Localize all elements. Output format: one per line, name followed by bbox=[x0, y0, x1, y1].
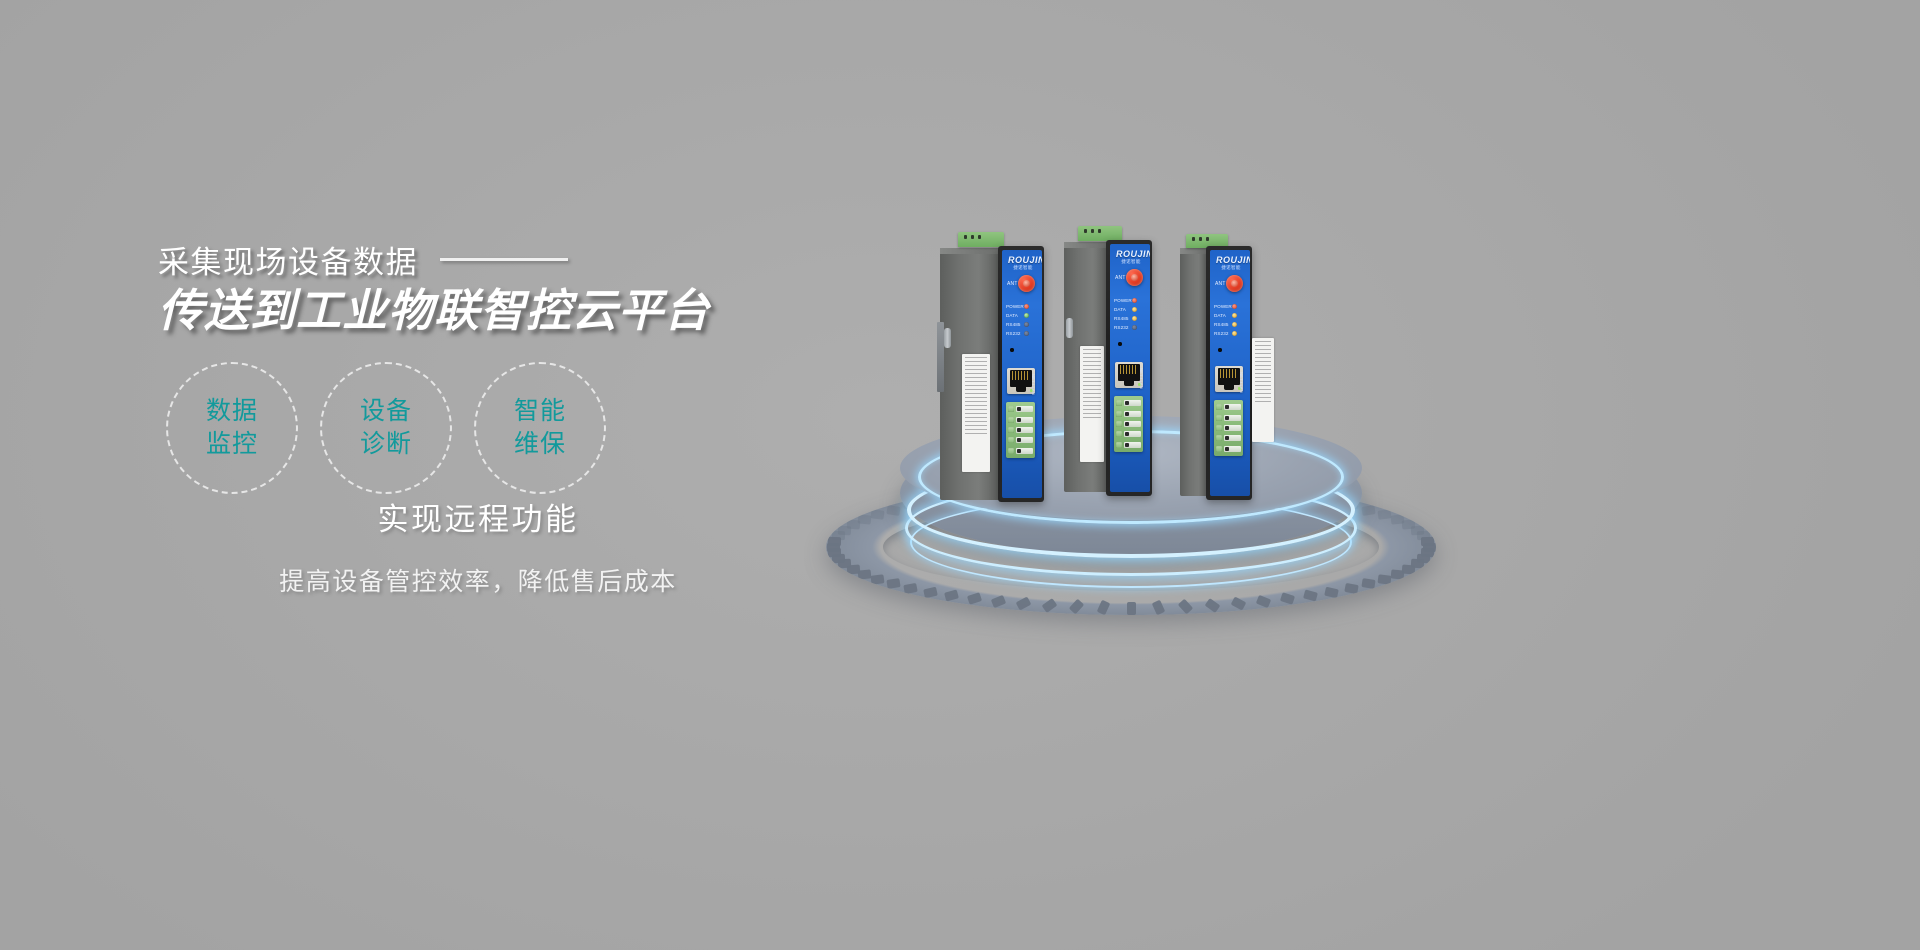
device-spec-label bbox=[962, 354, 990, 472]
terminal-slot bbox=[1008, 426, 1033, 433]
port-tab bbox=[1224, 384, 1234, 390]
feature-label-line1: 数据 bbox=[206, 395, 258, 428]
device-spec-label bbox=[1080, 346, 1104, 462]
led-row: DATA bbox=[1006, 311, 1029, 320]
port-label: NET / LAN bbox=[1031, 374, 1036, 395]
brand-logo: ROUJIN bbox=[1116, 249, 1146, 259]
antenna-label: ANT bbox=[1007, 281, 1018, 287]
terminal-slot bbox=[1116, 431, 1141, 438]
antenna-connector[interactable] bbox=[1018, 275, 1035, 292]
device-faceplate: ROUJIN 捷诺智能 ANT POWER DATA RS485 RS232 bbox=[1210, 250, 1250, 496]
port-label: NET / LAN bbox=[1139, 368, 1144, 389]
product-banner: 采集现场设备数据 传送到工业物联智控云平台 数据 监控 设备 诊断 智能 维保 … bbox=[0, 0, 1920, 950]
status-led bbox=[1024, 304, 1029, 309]
terminal-screw bbox=[1116, 421, 1122, 427]
led-row: DATA bbox=[1214, 311, 1237, 320]
terminal-slot bbox=[1008, 437, 1033, 444]
terminal-slot bbox=[1116, 441, 1141, 448]
port-label: NET / LAN bbox=[1239, 372, 1244, 393]
port-pins bbox=[1220, 369, 1238, 378]
port-tab bbox=[1124, 380, 1134, 386]
led-label: DATA bbox=[1006, 313, 1022, 318]
terminal-screw bbox=[1008, 406, 1014, 412]
terminal-wire-port bbox=[1016, 406, 1033, 412]
antenna-connector[interactable] bbox=[1226, 275, 1243, 292]
tagline-block: 实现远程功能 提高设备管控效率，降低售后成本 bbox=[158, 494, 798, 598]
product-scene: ROUJIN 捷诺智能 ANT POWER DATA RS485 RS232 bbox=[790, 190, 1490, 660]
antenna-label: ANT bbox=[1115, 275, 1126, 281]
terminal-slot bbox=[1216, 414, 1241, 421]
led-label: DATA bbox=[1214, 313, 1230, 318]
power-terminal-top bbox=[958, 232, 1004, 247]
mount-clip bbox=[1066, 318, 1073, 338]
terminal-screw bbox=[1008, 437, 1014, 443]
terminal-wire-port bbox=[1016, 437, 1033, 443]
terminal-wire-port bbox=[1016, 417, 1033, 423]
led-row: RS485 bbox=[1114, 314, 1137, 323]
eyebrow-divider bbox=[440, 258, 568, 261]
device-faceplate: ROUJIN 捷诺智能 ANT POWER DATA RS485 RS232 bbox=[1002, 250, 1042, 498]
port-tab bbox=[1016, 386, 1026, 392]
tagline-secondary: 提高设备管控效率，降低售后成本 bbox=[158, 562, 798, 598]
terminal-screw bbox=[1008, 448, 1014, 454]
eyebrow-row: 采集现场设备数据 bbox=[158, 238, 798, 280]
terminal-slot bbox=[1116, 410, 1141, 417]
gateway-device-3[interactable]: ROUJIN 捷诺智能 ANT POWER DATA RS485 RS232 bbox=[1180, 234, 1284, 504]
terminal-screw bbox=[1216, 415, 1222, 421]
terminal-wire-port bbox=[1224, 425, 1241, 431]
terminal-wire-port bbox=[1124, 421, 1141, 427]
led-label: DATA bbox=[1114, 307, 1130, 312]
led-label: RS485 bbox=[1114, 316, 1130, 321]
page-title: 传送到工业物联智控云平台 bbox=[158, 284, 798, 337]
status-led bbox=[1132, 316, 1137, 321]
led-row: POWER bbox=[1214, 302, 1237, 311]
terminal-wire-port bbox=[1124, 442, 1141, 448]
port-pins bbox=[1120, 365, 1138, 374]
led-label: RS232 bbox=[1214, 331, 1230, 336]
terminal-screw bbox=[1008, 417, 1014, 423]
led-label: RS485 bbox=[1006, 322, 1022, 327]
power-terminal-top bbox=[1078, 226, 1122, 241]
feature-circle-data-monitoring[interactable]: 数据 监控 bbox=[166, 362, 298, 494]
reset-button[interactable] bbox=[1010, 348, 1014, 352]
led-label: POWER bbox=[1214, 304, 1230, 309]
gateway-device-2[interactable]: ROUJIN 捷诺智能 ANT POWER DATA RS485 RS232 bbox=[1064, 226, 1168, 496]
terminal-wire-port bbox=[1224, 404, 1241, 410]
terminal-wire-port bbox=[1016, 427, 1033, 433]
eyebrow-text: 采集现场设备数据 bbox=[158, 237, 418, 282]
led-row: POWER bbox=[1114, 296, 1137, 305]
terminal-wire-port bbox=[1124, 431, 1141, 437]
brand-subtitle: 捷诺智能 bbox=[1116, 259, 1146, 265]
gateway-device-1[interactable]: ROUJIN 捷诺智能 ANT POWER DATA RS485 RS232 bbox=[940, 232, 1044, 502]
mount-clip bbox=[944, 328, 951, 348]
terminal-wire-port bbox=[1124, 411, 1141, 417]
terminal-slot bbox=[1008, 416, 1033, 423]
brand-subtitle: 捷诺智能 bbox=[1216, 265, 1246, 271]
terminal-screw bbox=[1116, 431, 1122, 437]
terminal-wire-port bbox=[1224, 446, 1241, 452]
terminal-wire-port bbox=[1016, 448, 1033, 454]
led-row: RS485 bbox=[1006, 320, 1029, 329]
terminal-slot bbox=[1216, 435, 1241, 442]
terminal-screw bbox=[1008, 427, 1014, 433]
led-row: RS232 bbox=[1114, 323, 1137, 332]
status-led bbox=[1132, 325, 1137, 330]
device-faceplate: ROUJIN 捷诺智能 ANT POWER DATA RS485 RS232 bbox=[1110, 244, 1150, 492]
led-row: RS232 bbox=[1214, 329, 1237, 338]
feature-circle-smart-maintenance[interactable]: 智能 维保 bbox=[474, 362, 606, 494]
terminal-slot bbox=[1216, 404, 1241, 411]
brand-logo: ROUJIN bbox=[1008, 255, 1038, 265]
terminal-screw bbox=[1116, 411, 1122, 417]
led-indicator-group: POWER DATA RS485 RS232 bbox=[1006, 302, 1029, 338]
led-label: POWER bbox=[1114, 298, 1130, 303]
status-led bbox=[1024, 331, 1029, 336]
terminal-slot bbox=[1216, 424, 1241, 431]
led-label: RS232 bbox=[1006, 331, 1022, 336]
led-row: POWER bbox=[1006, 302, 1029, 311]
led-row: RS485 bbox=[1214, 320, 1237, 329]
copy-block: 采集现场设备数据 传送到工业物联智控云平台 bbox=[158, 238, 798, 337]
terminal-wire-port bbox=[1224, 415, 1241, 421]
status-led bbox=[1132, 298, 1137, 303]
led-row: DATA bbox=[1114, 305, 1137, 314]
feature-circle-device-diagnosis[interactable]: 设备 诊断 bbox=[320, 362, 452, 494]
io-terminal-block[interactable] bbox=[1114, 396, 1143, 452]
feature-circle-list: 数据 监控 设备 诊断 智能 维保 bbox=[166, 362, 606, 494]
led-indicator-group: POWER DATA RS485 RS232 bbox=[1114, 296, 1137, 332]
port-pins bbox=[1012, 371, 1030, 380]
feature-label-line2: 维保 bbox=[514, 428, 566, 461]
status-led bbox=[1132, 307, 1137, 312]
reset-button[interactable] bbox=[1118, 342, 1122, 346]
terminal-screw bbox=[1116, 442, 1122, 448]
feature-label-line2: 监控 bbox=[206, 428, 258, 461]
led-indicator-group: POWER DATA RS485 RS232 bbox=[1214, 302, 1237, 338]
status-led bbox=[1232, 331, 1237, 336]
tagline-primary: 实现远程功能 bbox=[158, 494, 798, 539]
antenna-connector[interactable] bbox=[1126, 269, 1143, 286]
terminal-slot bbox=[1008, 447, 1033, 454]
feature-label-line1: 智能 bbox=[514, 395, 566, 428]
terminal-slot bbox=[1116, 400, 1141, 407]
status-led bbox=[1024, 313, 1029, 318]
feature-label-line2: 诊断 bbox=[360, 428, 412, 461]
terminal-screw bbox=[1116, 400, 1122, 406]
status-led bbox=[1024, 322, 1029, 327]
terminal-wire-port bbox=[1124, 400, 1141, 406]
led-label: RS485 bbox=[1214, 322, 1230, 327]
led-label: POWER bbox=[1006, 304, 1022, 309]
status-led bbox=[1232, 304, 1237, 309]
terminal-screw bbox=[1216, 446, 1222, 452]
antenna-label: ANT bbox=[1215, 281, 1226, 287]
terminal-screw bbox=[1216, 435, 1222, 441]
terminal-slot bbox=[1008, 406, 1033, 413]
terminal-screw bbox=[1216, 425, 1222, 431]
feature-label-line1: 设备 bbox=[360, 395, 412, 428]
io-terminal-block[interactable] bbox=[1006, 402, 1035, 458]
terminal-screw bbox=[1216, 404, 1222, 410]
terminal-slot bbox=[1216, 445, 1241, 452]
terminal-wire-port bbox=[1224, 435, 1241, 441]
io-terminal-block[interactable] bbox=[1214, 400, 1243, 456]
led-row: RS232 bbox=[1006, 329, 1029, 338]
led-label: RS232 bbox=[1114, 325, 1130, 330]
terminal-slot bbox=[1116, 420, 1141, 427]
brand-logo: ROUJIN bbox=[1216, 255, 1246, 265]
din-rail-clip bbox=[937, 322, 944, 392]
status-led bbox=[1232, 313, 1237, 318]
device-spec-label bbox=[1252, 338, 1274, 442]
brand-subtitle: 捷诺智能 bbox=[1008, 265, 1038, 271]
status-led bbox=[1232, 322, 1237, 327]
reset-button[interactable] bbox=[1218, 348, 1222, 352]
